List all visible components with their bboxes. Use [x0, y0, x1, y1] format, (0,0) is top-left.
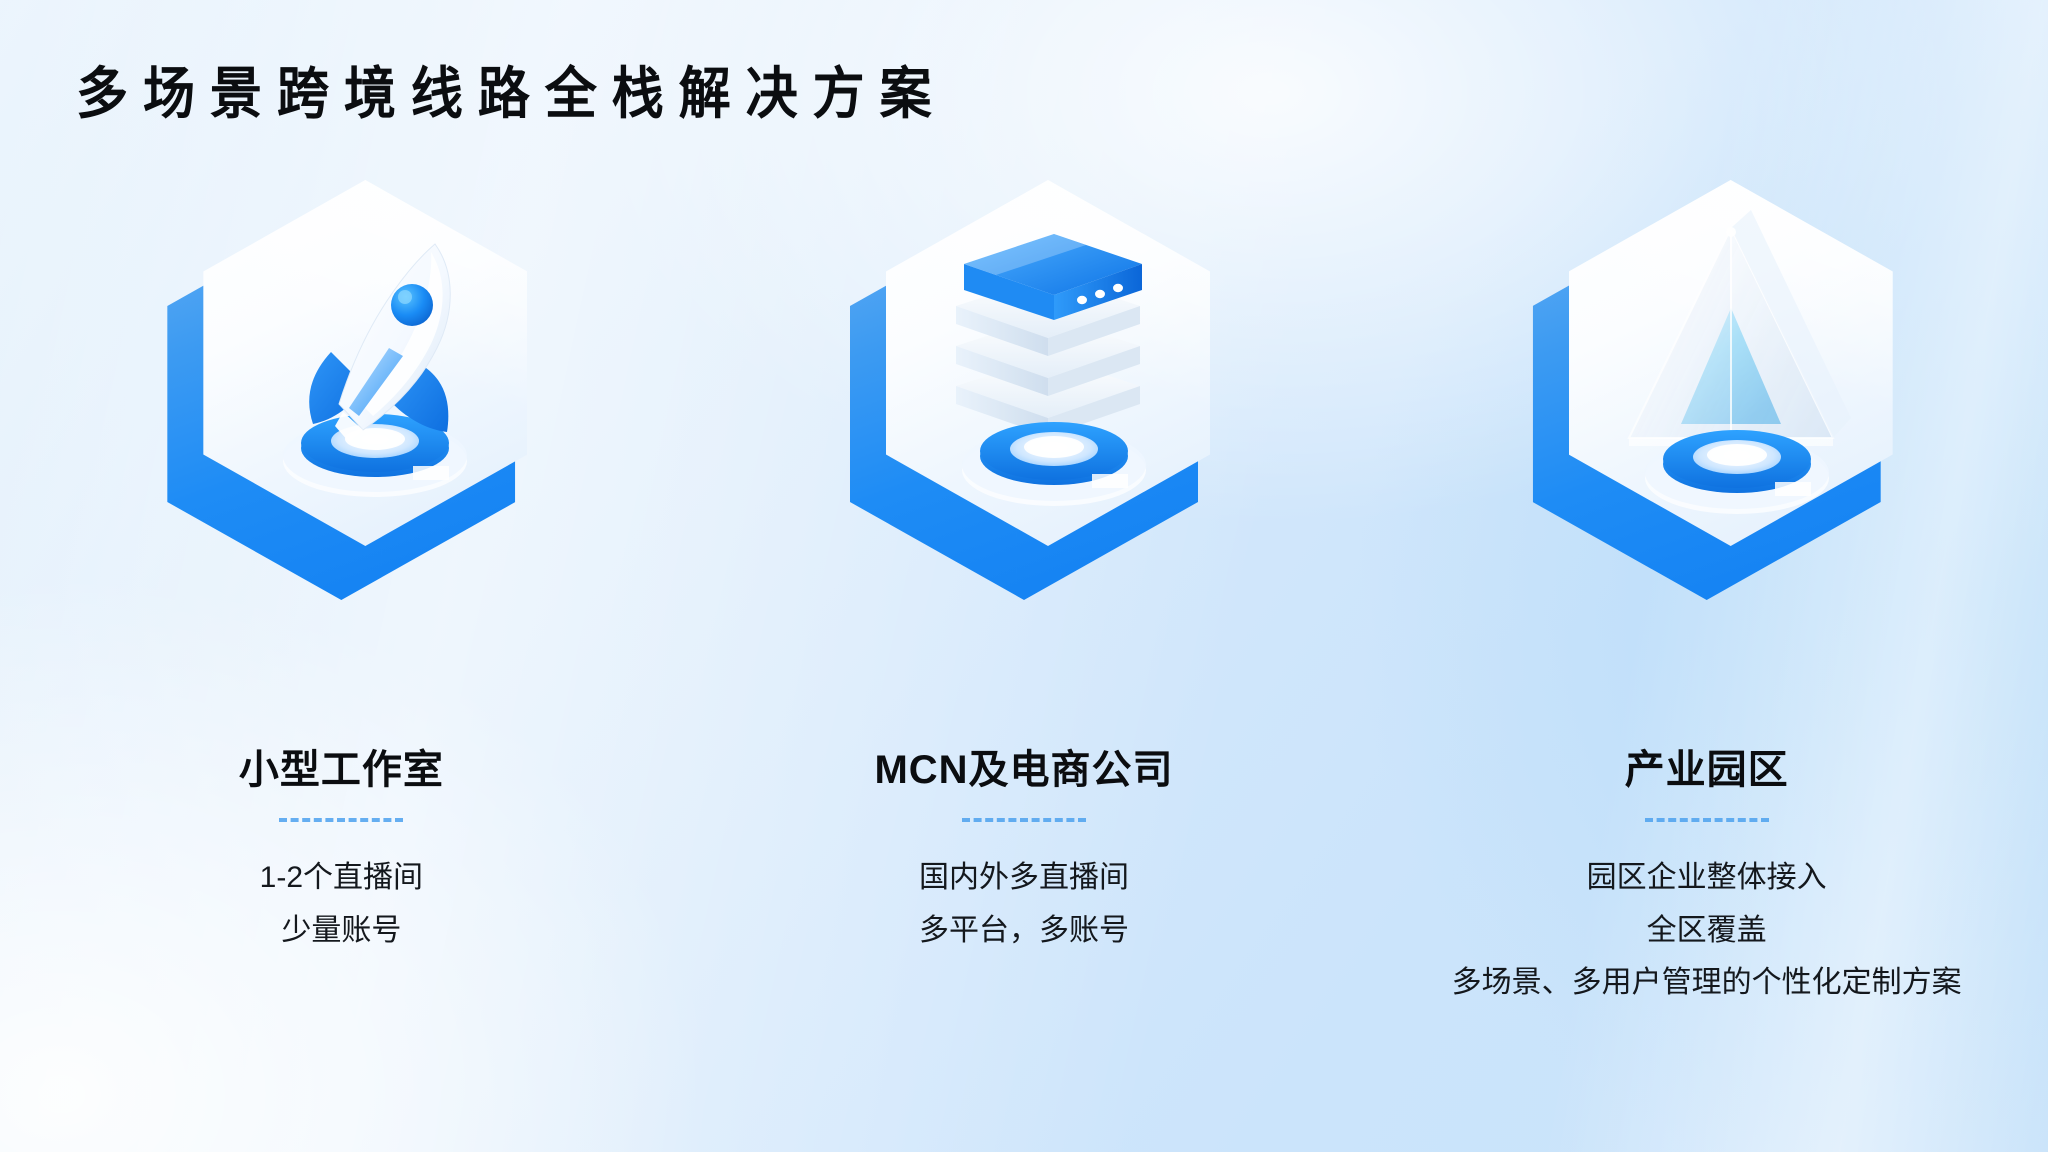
card-line: 全区覆盖: [1452, 905, 1962, 958]
card-line: 少量账号: [260, 905, 423, 958]
card-line: 园区企业整体接入: [1452, 852, 1962, 905]
card-line: 多平台，多账号: [919, 905, 1129, 958]
card-description-industrial-park: 园区企业整体接入 全区覆盖 多场景、多用户管理的个性化定制方案: [1452, 852, 1962, 1010]
scenario-card-industrial-park[interactable]: 产业园区 园区企业整体接入 全区覆盖 多场景、多用户管理的个性化定制方案: [1365, 168, 2048, 1010]
card-line: 国内外多直播间: [919, 852, 1129, 905]
card-divider: [962, 818, 1086, 822]
hexagon-emblem-mcn-ecommerce: [828, 168, 1220, 608]
card-line: 1-2个直播间: [260, 852, 423, 905]
scenario-card-mcn-ecommerce[interactable]: MCN及电商公司 国内外多直播间 多平台，多账号: [683, 168, 1366, 1010]
scenario-card-small-studio[interactable]: 小型工作室 1-2个直播间 少量账号: [0, 168, 683, 1010]
slide-canvas: 多场景跨境线路全栈解决方案: [0, 0, 2048, 1152]
card-title-industrial-park: 产业园区: [1625, 746, 1789, 794]
scenario-card-row: 小型工作室 1-2个直播间 少量账号: [0, 168, 2048, 1010]
page-title: 多场景跨境线路全栈解决方案: [76, 62, 946, 126]
hexagon-emblem-industrial-park: [1511, 168, 1903, 608]
card-divider: [1645, 818, 1769, 822]
card-title-small-studio: 小型工作室: [239, 746, 444, 794]
hexagon-emblem-small-studio: [145, 168, 537, 608]
card-description-mcn-ecommerce: 国内外多直播间 多平台，多账号: [919, 852, 1129, 957]
card-description-small-studio: 1-2个直播间 少量账号: [260, 852, 423, 957]
card-title-mcn-ecommerce: MCN及电商公司: [874, 746, 1173, 794]
card-line: 多场景、多用户管理的个性化定制方案: [1452, 957, 1962, 1010]
card-divider: [279, 818, 403, 822]
